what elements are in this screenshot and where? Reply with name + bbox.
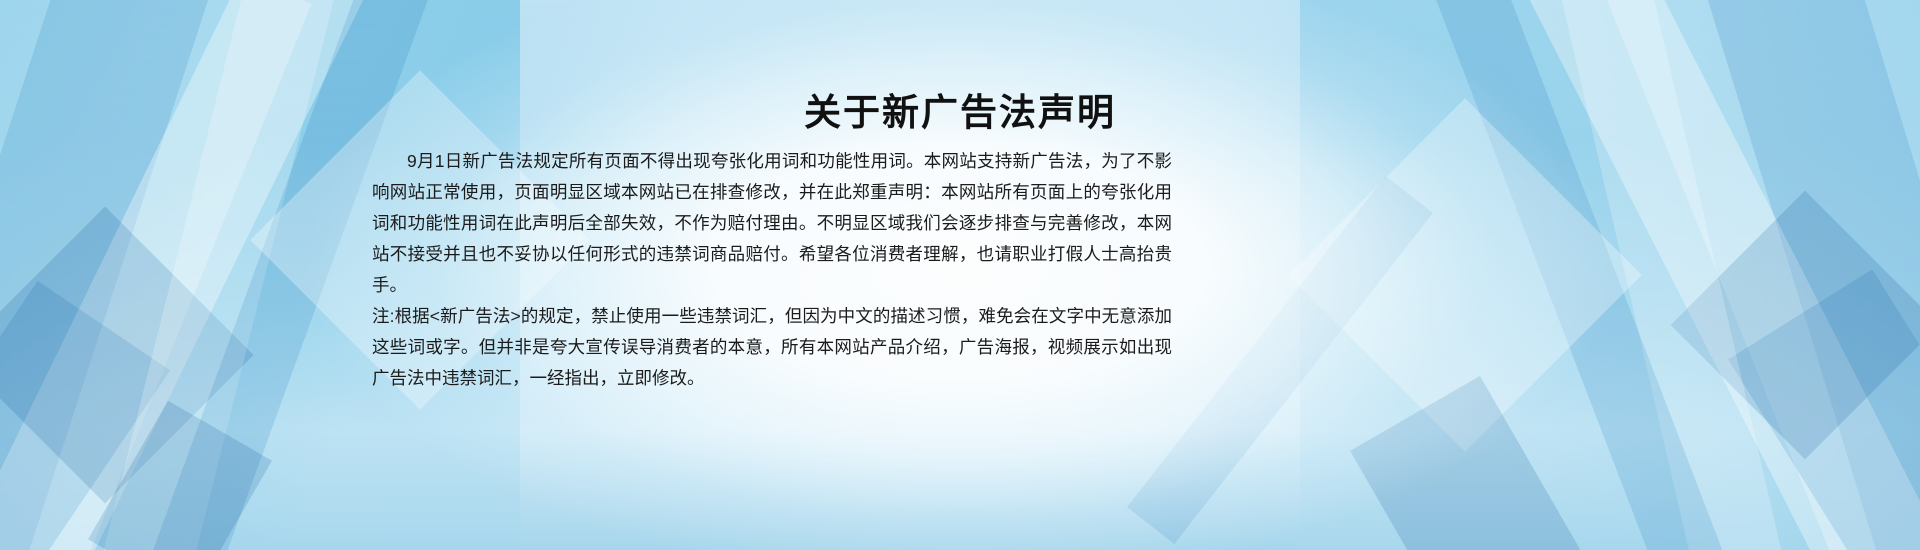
page-title: 关于新广告法声明 (0, 82, 1920, 136)
statement-content: 关于新广告法声明 9月1日新广告法规定所有页面不得出现夸张化用词和功能性用词。本… (0, 0, 1920, 550)
advertising-law-statement-banner: 关于新广告法声明 9月1日新广告法规定所有页面不得出现夸张化用词和功能性用词。本… (0, 0, 1920, 550)
statement-paragraph-1: 9月1日新广告法规定所有页面不得出现夸张化用词和功能性用词。本网站支持新广告法，… (372, 146, 1172, 301)
statement-body: 9月1日新广告法规定所有页面不得出现夸张化用词和功能性用词。本网站支持新广告法，… (372, 146, 1172, 394)
statement-paragraph-2: 注:根据<新广告法>的规定，禁止使用一些违禁词汇，但因为中文的描述习惯，难免会在… (372, 301, 1172, 394)
